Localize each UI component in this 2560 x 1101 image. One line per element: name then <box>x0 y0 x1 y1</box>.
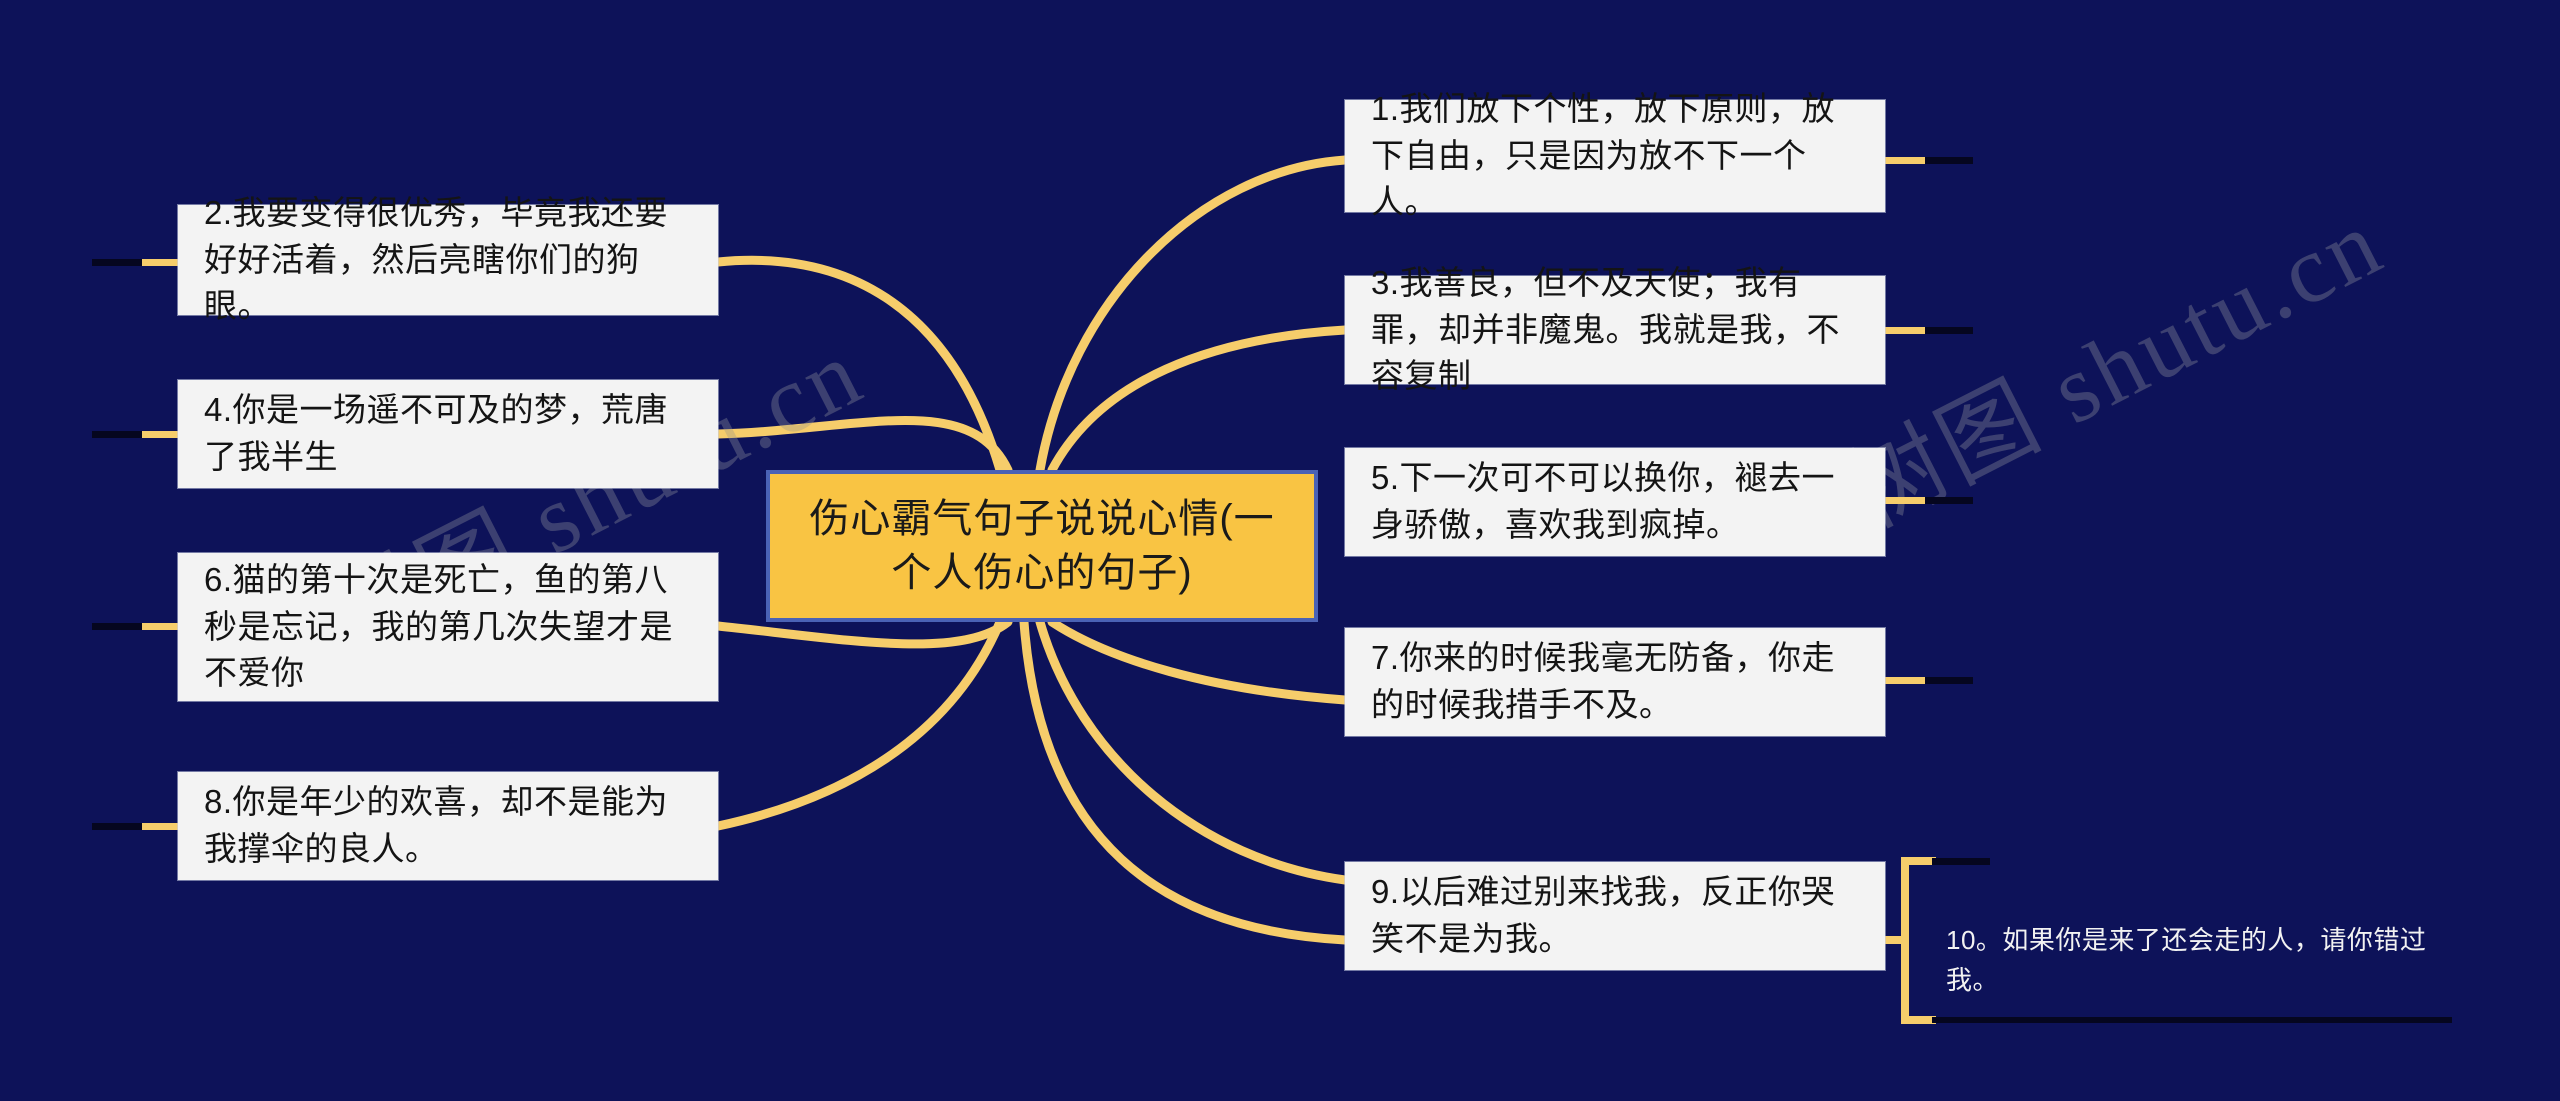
node-4-label: 4.你是一场遥不可及的梦，荒唐了我半生 <box>178 387 718 481</box>
stub-dark-node-10-top <box>1932 858 1990 865</box>
node-7[interactable]: 7.你来的时候我毫无防备，你走的时候我措手不及。 <box>1345 628 1885 736</box>
stub-dark-node-8 <box>92 823 142 830</box>
node-1[interactable]: 1.我们放下个性，放下原则，放下自由，只是因为放不下一个人。 <box>1345 100 1885 212</box>
branch-to-node-9 <box>1024 622 1345 940</box>
branch-to-node-7 <box>1040 622 1345 880</box>
stub-gold-node-7 <box>1885 677 1925 684</box>
node-3[interactable]: 3.我善良，但不及天使；我有罪，却并非魔鬼。我就是我，不容复制 <box>1345 276 1885 384</box>
node-8-label: 8.你是年少的欢喜，却不是能为我撑伞的良人。 <box>178 779 718 873</box>
node-3-label: 3.我善良，但不及天使；我有罪，却并非魔鬼。我就是我，不容复制 <box>1345 260 1885 401</box>
node-10[interactable]: 10。如果你是来了还会走的人，请你错过我。 <box>1946 920 2446 1001</box>
node-9[interactable]: 9.以后难过别来找我，反正你哭笑不是为我。 <box>1345 862 1885 970</box>
branch-to-node-6 <box>718 622 1008 644</box>
node-8[interactable]: 8.你是年少的欢喜，却不是能为我撑伞的良人。 <box>178 772 718 880</box>
stub-dark-node-5 <box>1925 497 1973 504</box>
node-10-label: 10。如果你是来了还会走的人，请你错过我。 <box>1946 925 2426 995</box>
stub-gold-node-5 <box>1885 497 1925 504</box>
node-5-label: 5.下一次可不可以换你，褪去一身骄傲，喜欢我到疯掉。 <box>1345 455 1885 549</box>
branch-to-node-8 <box>718 622 1000 826</box>
stub-dark-node-3 <box>1925 327 1973 334</box>
node-7-label: 7.你来的时候我毫无防备，你走的时候我措手不及。 <box>1345 635 1885 729</box>
stub-dark-node-1 <box>1925 157 1973 164</box>
stub-gold-node-4 <box>138 431 178 438</box>
root-node[interactable]: 伤心霸气句子说说心情(一个人伤心的句子) <box>766 470 1318 622</box>
stub-dark-node-6 <box>92 623 142 630</box>
node-2-label: 2.我要变得很优秀，毕竟我还要好好活着，然后亮瞎你们的狗眼。 <box>178 190 718 331</box>
branch-to-node-4 <box>718 420 1008 470</box>
underline-node-10 <box>1932 1017 2452 1023</box>
mindmap-canvas: 树图 shutu.cn 树图 shutu.cn <box>0 0 2560 1101</box>
stub-dark-node-2 <box>92 259 142 266</box>
node-4[interactable]: 4.你是一场遥不可及的梦，荒唐了我半生 <box>178 380 718 488</box>
root-node-label: 伤心霸气句子说说心情(一个人伤心的句子) <box>770 492 1314 600</box>
node-9-label: 9.以后难过别来找我，反正你哭笑不是为我。 <box>1345 869 1885 963</box>
stub-gold-node-1 <box>1885 157 1925 164</box>
stub-gold-node-2 <box>138 259 178 266</box>
node-6-label: 6.猫的第十次是死亡，鱼的第八秒是忘记，我的第几次失望才是不爱你 <box>178 557 718 698</box>
branch-to-node-5 <box>1052 622 1345 700</box>
node-2[interactable]: 2.我要变得很优秀，毕竟我还要好好活着，然后亮瞎你们的狗眼。 <box>178 205 718 315</box>
branch-to-node-3 <box>1052 330 1345 470</box>
stub-dark-node-7 <box>1925 677 1973 684</box>
stub-dark-node-4 <box>92 431 142 438</box>
stub-gold-node-8 <box>138 823 178 830</box>
node-6[interactable]: 6.猫的第十次是死亡，鱼的第八秒是忘记，我的第几次失望才是不爱你 <box>178 553 718 701</box>
node-1-label: 1.我们放下个性，放下原则，放下自由，只是因为放不下一个人。 <box>1345 86 1885 227</box>
stub-gold-node-3 <box>1885 327 1925 334</box>
node-5[interactable]: 5.下一次可不可以换你，褪去一身骄傲，喜欢我到疯掉。 <box>1345 448 1885 556</box>
branch-to-node-2 <box>718 260 1000 470</box>
stub-gold-node-6 <box>138 623 178 630</box>
